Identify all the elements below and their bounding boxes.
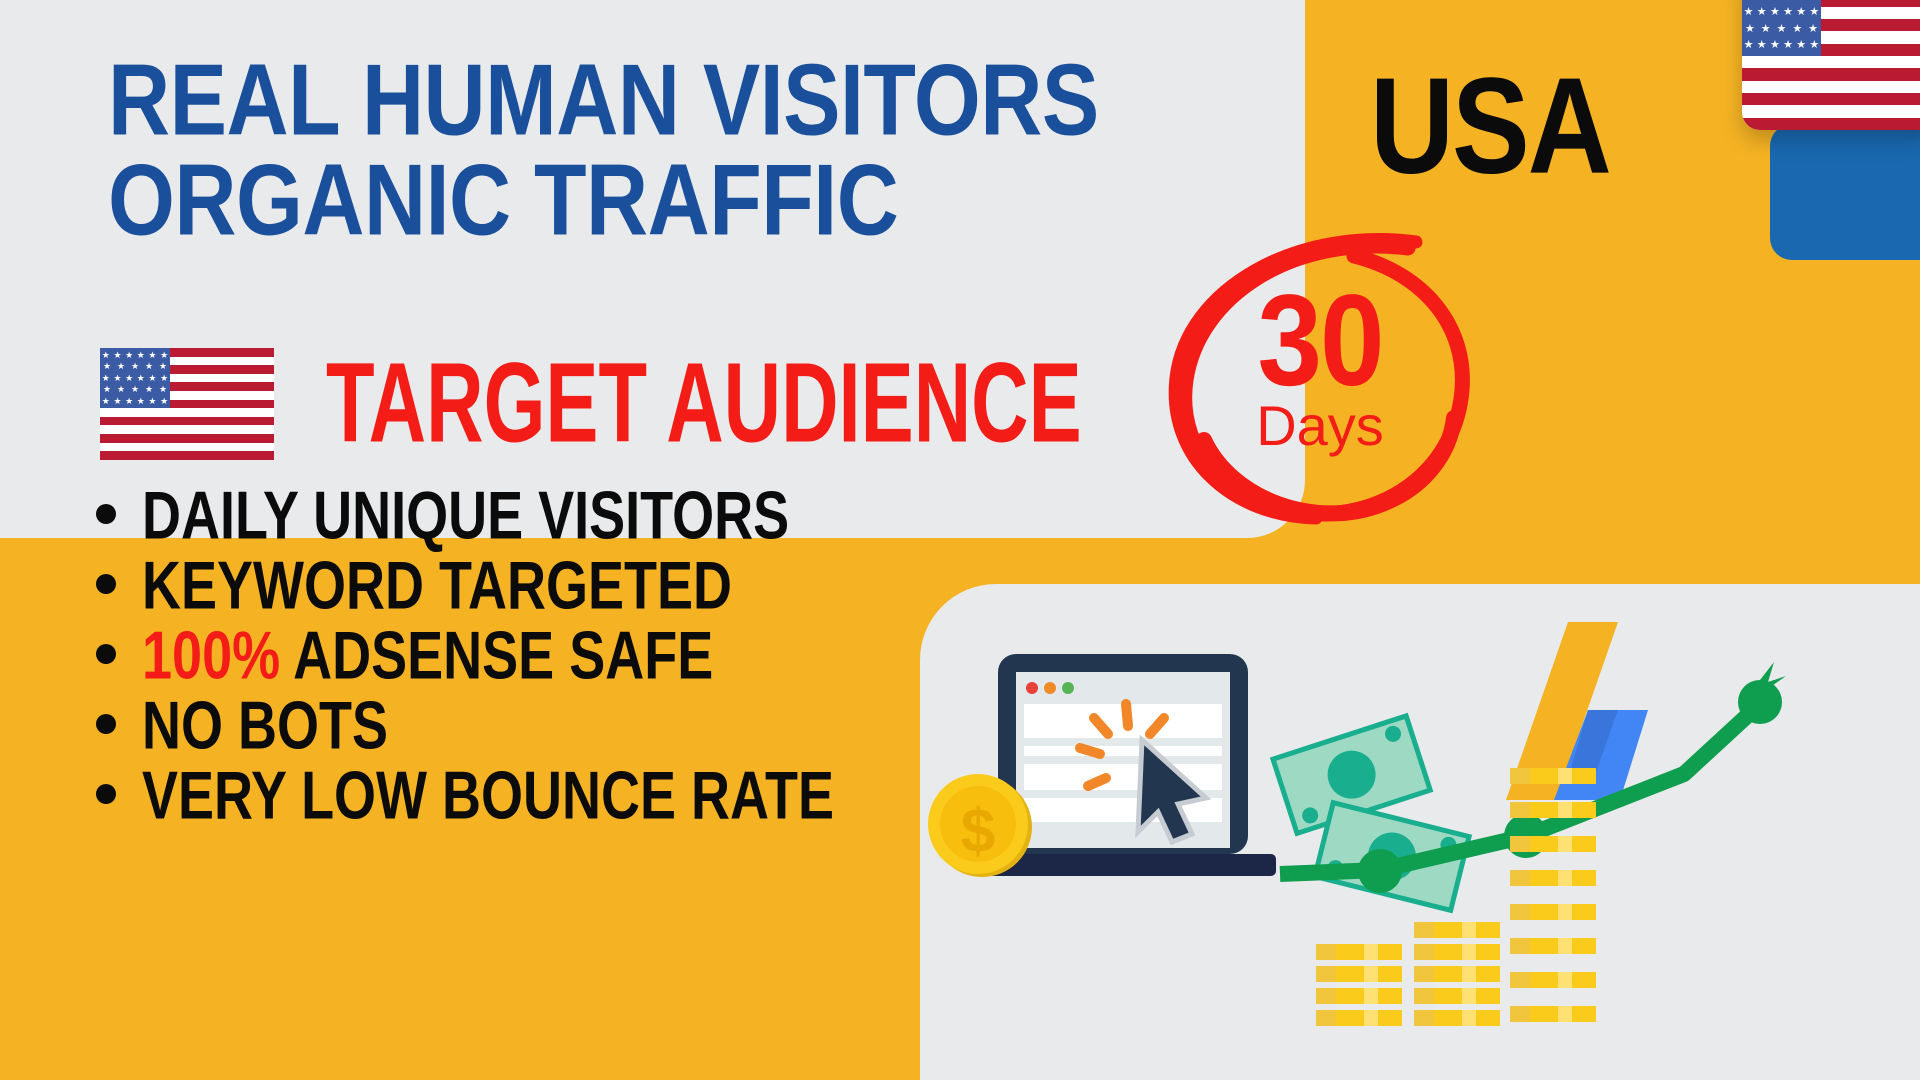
duration-number: 30 <box>1257 275 1382 405</box>
list-item: DAILY UNIQUE VISITORS <box>96 482 996 536</box>
feature-label: 100% ADSENSE SAFE <box>142 622 713 690</box>
feature-label-rest: ADSENSE SAFE <box>293 618 713 694</box>
country-label: USA <box>1370 58 1610 195</box>
poster-canvas: REAL HUMAN VISITORS ORGANIC TRAFFIC ★★★★… <box>0 0 1920 1080</box>
feature-label: DAILY UNIQUE VISITORS <box>142 482 789 550</box>
duration-unit: Days <box>1256 398 1384 454</box>
feature-label: KEYWORD TARGETED <box>142 552 732 620</box>
feature-label: NO BOTS <box>142 692 388 760</box>
target-audience-row: ★★★★★★ ★★★★★ ★★★★★★ ★★★★★ ★★★★★★ TARGET … <box>100 348 1105 460</box>
headline-line-2: ORGANIC TRAFFIC <box>108 152 1238 249</box>
blue-accent-shape <box>1770 124 1920 260</box>
page-title: REAL HUMAN VISITORS ORGANIC TRAFFIC <box>108 52 1238 234</box>
feature-list: DAILY UNIQUE VISITORS KEYWORD TARGETED 1… <box>96 482 996 832</box>
feature-highlight: 100% <box>142 618 280 694</box>
usa-flag-corner-icon: ★★★★★★ ★★★★★ ★★★★★★ ★★★★★ ★★★★★★ <box>1742 0 1920 130</box>
feature-label: VERY LOW BOUNCE RATE <box>142 762 834 830</box>
illustration-panel: $ <box>920 584 1920 1080</box>
bullet-dot-icon <box>96 574 116 594</box>
bullet-dot-icon <box>96 644 116 664</box>
list-item: VERY LOW BOUNCE RATE <box>96 762 996 816</box>
duration-badge: 30 Days <box>1140 212 1500 532</box>
bullet-dot-icon <box>96 714 116 734</box>
list-item: 100% ADSENSE SAFE <box>96 622 996 676</box>
list-item: NO BOTS <box>96 692 996 746</box>
bullet-dot-icon <box>96 784 116 804</box>
headline-line-1: REAL HUMAN VISITORS <box>108 52 1238 149</box>
bullet-dot-icon <box>96 504 116 524</box>
list-item: KEYWORD TARGETED <box>96 552 996 606</box>
usa-flag-icon: ★★★★★★ ★★★★★ ★★★★★★ ★★★★★ ★★★★★★ <box>100 348 274 460</box>
target-audience-label: TARGET AUDIENCE <box>326 347 1082 460</box>
adsense-earnings-illustration: $ <box>920 584 1920 1080</box>
